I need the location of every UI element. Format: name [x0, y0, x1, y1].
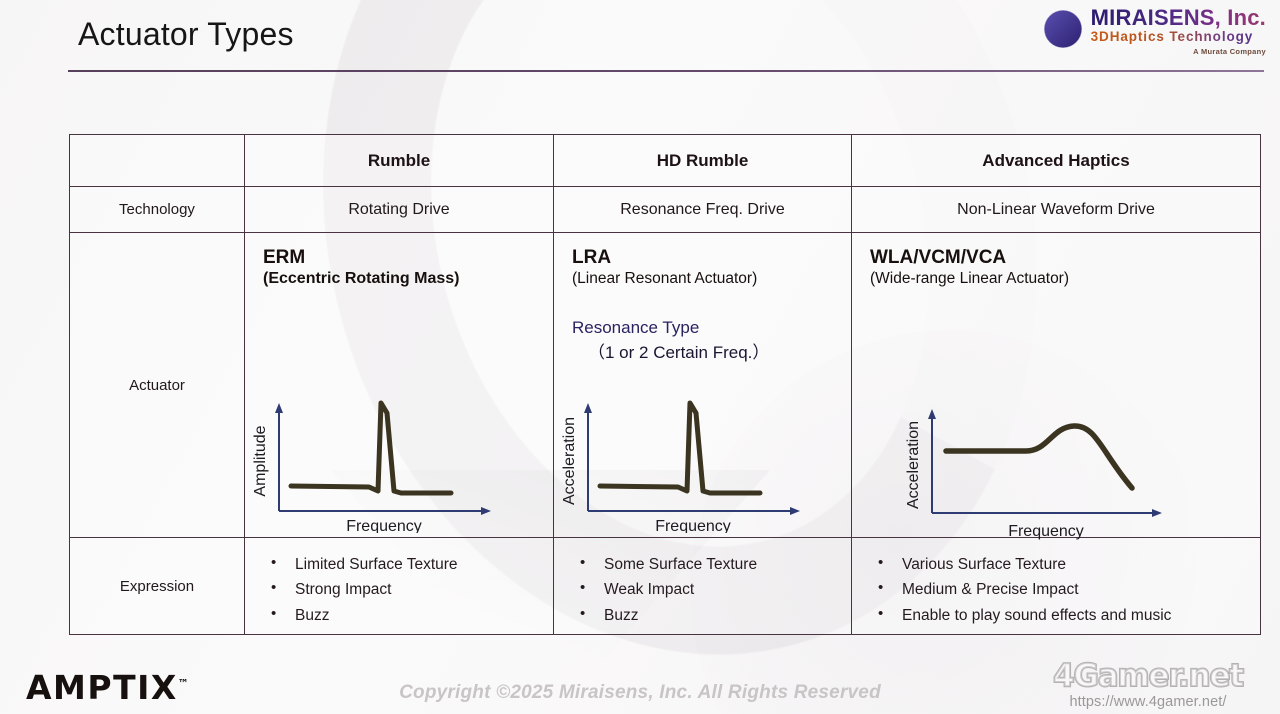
graph-ylabel-advanced-haptics: Acceleration	[906, 421, 922, 509]
graph-xlabel-advanced-haptics: Frequency	[1008, 523, 1084, 540]
graph-hd-rumble: Acceleration Frequency	[560, 383, 810, 533]
list-item: Weak Impact	[572, 577, 851, 602]
expression-cell-advanced-haptics: Various Surface Texture Medium & Precise…	[852, 538, 1261, 635]
brand-text-block: MIRAISENS, Inc. 3DHaptics Technology A M…	[1091, 6, 1266, 56]
list-item: Various Surface Texture	[870, 552, 1260, 577]
table-row-technology: Technology Rotating Drive Resonance Freq…	[70, 187, 1261, 233]
table-corner-cell	[70, 135, 245, 187]
actuator-cell-hd-rumble: LRA (Linear Resonant Actuator) Resonance…	[554, 233, 852, 538]
brand-logo: MIRAISENS, Inc. 3DHaptics Technology A M…	[1041, 6, 1266, 56]
expression-cell-hd-rumble: Some Surface Texture Weak Impact Buzz	[554, 538, 852, 635]
actuator-abbr-lra: LRA	[572, 247, 851, 269]
technology-hd-rumble: Resonance Freq. Drive	[554, 187, 852, 233]
list-item: Enable to play sound effects and music	[870, 603, 1260, 628]
4gamer-url: https://www.4gamer.net/	[1032, 694, 1264, 710]
graph-ylabel-rumble: Amplitude	[252, 425, 269, 496]
row-label-expression: Expression	[70, 538, 245, 635]
actuator-note-line1: Resonance Type	[572, 315, 851, 341]
table-row-actuator: Actuator ERM (Eccentric Rotating Mass)	[70, 233, 1261, 538]
4gamer-logo: 4Gamer.net	[1032, 661, 1264, 692]
graph-xlabel-hd-rumble: Frequency	[655, 518, 731, 533]
title-underline-rule	[68, 70, 1264, 72]
column-header-hd-rumble: HD Rumble	[554, 135, 852, 187]
expression-list-advanced-haptics: Various Surface Texture Medium & Precise…	[870, 552, 1260, 627]
list-item: Limited Surface Texture	[263, 552, 553, 577]
list-item: Buzz	[572, 603, 851, 628]
expression-cell-rumble: Limited Surface Texture Strong Impact Bu…	[245, 538, 554, 635]
row-label-technology: Technology	[70, 187, 245, 233]
actuator-cell-advanced-haptics: WLA/VCM/VCA (Wide-range Linear Actuator)…	[852, 233, 1261, 538]
actuator-note-line2: （1 or 2 Certain Freq.）	[572, 340, 851, 366]
table-row-header: Rumble HD Rumble Advanced Haptics	[70, 135, 1261, 187]
slide-footer: AMPTIX™ Copyright ©2025 Miraisens, Inc. …	[0, 650, 1280, 714]
list-item: Buzz	[263, 603, 553, 628]
graph-rumble: Amplitude Frequency	[251, 383, 501, 533]
column-header-rumble: Rumble	[245, 135, 554, 187]
row-label-actuator: Actuator	[70, 233, 245, 538]
technology-advanced-haptics: Non-Linear Waveform Drive	[852, 187, 1261, 233]
list-item: Strong Impact	[263, 577, 553, 602]
column-header-advanced-haptics: Advanced Haptics	[852, 135, 1261, 187]
list-item: Some Surface Texture	[572, 552, 851, 577]
brand-subtitle: A Murata Company	[1091, 47, 1266, 56]
4gamer-watermark: 4Gamer.net https://www.4gamer.net/	[1032, 661, 1264, 710]
actuator-comparison-table: Rumble HD Rumble Advanced Haptics Techno…	[69, 134, 1261, 635]
slide-header: Actuator Types	[0, 0, 1280, 76]
actuator-note-lra: Resonance Type （1 or 2 Certain Freq.）	[572, 315, 851, 366]
actuator-full-wla: (Wide-range Linear Actuator)	[870, 269, 1260, 288]
actuator-full-lra: (Linear Resonant Actuator)	[572, 269, 851, 288]
table-row-expression: Expression Limited Surface Texture Stron…	[70, 538, 1261, 635]
actuator-full-erm: (Eccentric Rotating Mass)	[263, 269, 553, 289]
actuator-abbr-erm: ERM	[263, 247, 553, 269]
actuator-abbr-wla: WLA/VCM/VCA	[870, 247, 1260, 269]
technology-rumble: Rotating Drive	[245, 187, 554, 233]
page-title: Actuator Types	[78, 16, 294, 53]
miraisens-swirl-icon	[1041, 7, 1085, 51]
graph-ylabel-hd-rumble: Acceleration	[561, 417, 578, 505]
expression-list-rumble: Limited Surface Texture Strong Impact Bu…	[263, 552, 553, 627]
brand-name: MIRAISENS, Inc.	[1091, 7, 1266, 29]
list-item: Medium & Precise Impact	[870, 577, 1260, 602]
brand-tagline: 3DHaptics Technology	[1091, 30, 1266, 45]
graph-xlabel-rumble: Frequency	[346, 518, 422, 533]
expression-list-hd-rumble: Some Surface Texture Weak Impact Buzz	[572, 552, 851, 627]
actuator-cell-rumble: ERM (Eccentric Rotating Mass)	[245, 233, 554, 538]
graph-advanced-haptics: Acceleration Frequency	[906, 391, 1196, 541]
